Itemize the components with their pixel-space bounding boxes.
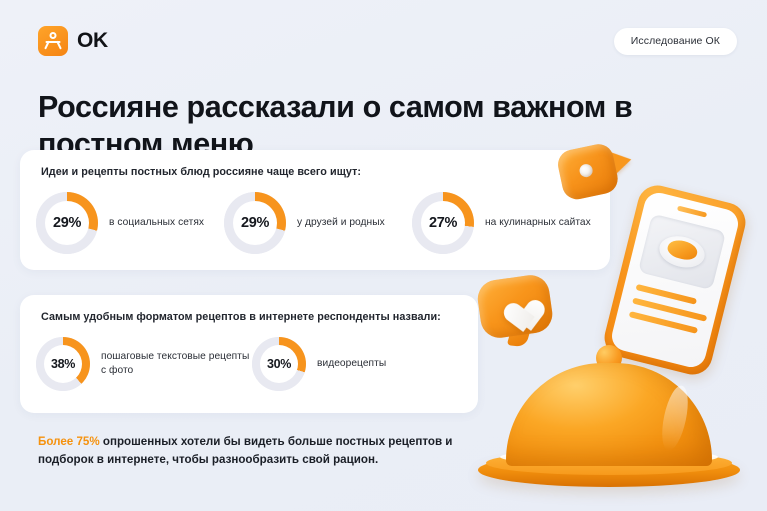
footer-text: опрошенных хотели бы видеть больше постн… bbox=[38, 435, 452, 466]
card-title: Самым удобным форматом рецептов в интерн… bbox=[41, 311, 441, 323]
donut-gauge: 38% bbox=[36, 337, 90, 391]
gauge-value: 30% bbox=[267, 357, 291, 371]
food-cloche-icon bbox=[478, 345, 740, 487]
heart-speech-bubble-icon bbox=[475, 272, 562, 354]
footer-summary: Более 75% опрошенных хотели бы видеть бо… bbox=[38, 433, 498, 469]
stat-label: на кулинарных сайтах bbox=[485, 216, 591, 230]
stat-label: у друзей и родных bbox=[297, 216, 385, 230]
footer-highlight: Более 75% bbox=[38, 435, 100, 448]
brand-name: OK bbox=[77, 29, 108, 53]
study-badge: Исследование ОК bbox=[614, 28, 737, 55]
stat-label: пошаговые текстовые рецепты с фото bbox=[101, 350, 252, 379]
donut-gauge: 27% bbox=[412, 192, 474, 254]
ok-logo-icon bbox=[38, 26, 68, 56]
stat-item: 29% у друзей и родных bbox=[224, 192, 412, 254]
card-title: Идеи и рецепты постных блюд россияне чащ… bbox=[41, 166, 361, 178]
gauge-value: 27% bbox=[429, 215, 457, 231]
gauge-value: 29% bbox=[241, 215, 269, 231]
stat-label: видеорецепты bbox=[317, 357, 386, 371]
donut-gauge: 29% bbox=[224, 192, 286, 254]
stat-item: 38% пошаговые текстовые рецепты с фото bbox=[36, 337, 252, 391]
stat-item: 30% видеорецепты bbox=[252, 337, 468, 391]
gauge-value: 29% bbox=[53, 215, 81, 231]
gauge-value: 38% bbox=[51, 357, 75, 371]
brand-logo: OK bbox=[38, 26, 108, 56]
donut-gauge: 29% bbox=[36, 192, 98, 254]
stat-label: в социальных сетях bbox=[109, 216, 204, 230]
card-recipe-format: Самым удобным форматом рецептов в интерн… bbox=[20, 295, 478, 413]
stat-item: 29% в социальных сетях bbox=[36, 192, 224, 254]
stat-group: 29% в социальных сетях 29% у друзей и ро… bbox=[36, 192, 600, 254]
card-search-sources: Идеи и рецепты постных блюд россияне чащ… bbox=[20, 150, 610, 270]
stat-group: 38% пошаговые текстовые рецепты с фото 3… bbox=[36, 337, 468, 391]
infographic-canvas: OK Исследование ОК Россияне рассказали о… bbox=[0, 0, 767, 511]
donut-gauge: 30% bbox=[252, 337, 306, 391]
